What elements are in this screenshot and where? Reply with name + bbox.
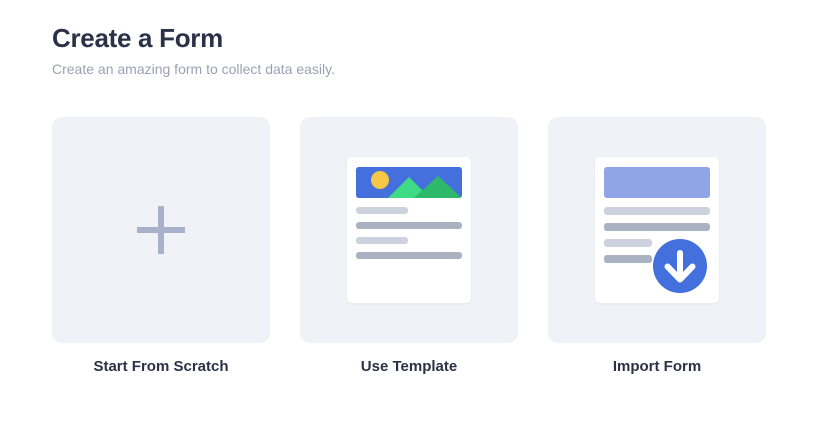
download-arrow-icon	[653, 239, 707, 293]
template-document-icon	[347, 157, 471, 303]
option-label-import-form: Import Form	[613, 357, 701, 377]
text-line	[604, 239, 652, 247]
sun-icon	[371, 171, 389, 189]
text-line	[604, 207, 710, 215]
option-tile-start-from-scratch[interactable]	[52, 117, 270, 343]
template-image-thumbnail	[356, 167, 462, 198]
option-start-from-scratch[interactable]: Start From Scratch	[52, 117, 270, 377]
option-label-use-template: Use Template	[361, 357, 457, 377]
text-line	[356, 207, 408, 214]
create-form-page: Create a Form Create an amazing form to …	[0, 0, 834, 427]
landscape-image-icon	[356, 167, 462, 198]
document-header-block	[604, 167, 710, 198]
text-line	[356, 222, 462, 229]
option-use-template[interactable]: Use Template	[300, 117, 518, 377]
text-line	[604, 255, 652, 263]
option-label-start-from-scratch: Start From Scratch	[93, 357, 228, 377]
page-subtitle: Create an amazing form to collect data e…	[52, 60, 752, 78]
text-line	[356, 237, 408, 244]
page-title: Create a Form	[52, 22, 752, 54]
option-import-form[interactable]: Import Form	[548, 117, 766, 377]
page-header: Create a Form Create an amazing form to …	[52, 22, 752, 78]
plus-icon	[135, 204, 187, 256]
text-line	[356, 252, 462, 259]
text-line	[604, 223, 710, 231]
option-tile-import-form[interactable]	[548, 117, 766, 343]
import-document-icon	[595, 157, 719, 303]
create-form-options: Start From Scratch	[52, 117, 766, 377]
option-tile-use-template[interactable]	[300, 117, 518, 343]
template-text-lines	[356, 207, 462, 267]
